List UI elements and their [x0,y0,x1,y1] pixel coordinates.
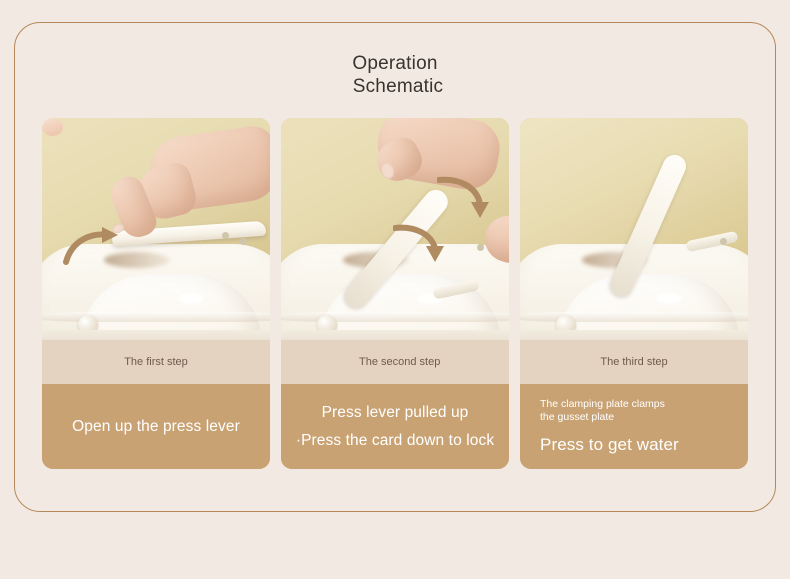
step-1-caption: Open up the press lever [42,384,270,469]
step-panel-1: The first step Open up the press lever [42,118,270,469]
hand-photo [42,118,63,136]
step-3-label: The third step [520,340,748,384]
appliance-highlight [656,293,682,304]
appliance-base [281,330,509,340]
appliance-base [520,330,748,340]
step-2-label-text: The second step [359,355,440,369]
curved-arrow-down-icon [393,222,445,266]
page-title: Operation Schematic [0,52,790,98]
page-title-line-1: Operation [352,53,437,74]
step-2-caption: Press lever pulled up ·Press the card do… [281,384,509,469]
step-3-caption-main: Press to get water [540,434,679,455]
step-1-label: The first step [42,340,270,384]
step-2-label: The second step [281,340,509,384]
step-1-photo [42,118,270,340]
lever-pin-icon [222,232,229,239]
appliance-rim [281,312,509,322]
appliance-highlight [178,293,204,304]
step-3-photo [520,118,748,340]
lever-pin-icon [477,244,484,251]
step-1-caption-main: Open up the press lever [72,417,240,436]
step-panel-3: The third step The clamping plate clamps… [520,118,748,469]
appliance-rim [520,312,748,322]
step-3-caption-sub: The clamping plate clamps the gusset pla… [540,398,665,424]
page-title-line-2: Schematic [0,75,790,98]
step-2-caption-main-2: ·Press the card down to lock [296,431,494,450]
step-2-caption-main: Press lever pulled up [322,403,469,422]
appliance-rim [42,312,270,322]
appliance-base [42,330,270,340]
step-3-label-text: The third step [600,355,667,369]
step-panel-2: The second step Press lever pulled up ·P… [281,118,509,469]
curved-arrow-down-icon [437,174,489,222]
finger-tip [42,118,63,136]
step-2-photo [281,118,509,340]
curved-arrow-right-icon [62,226,128,268]
step-1-label-text: The first step [124,355,188,369]
lever-pin-icon [720,238,727,245]
step-3-caption: The clamping plate clamps the gusset pla… [520,384,748,469]
steps-container: The first step Open up the press lever [42,118,749,469]
lever-pin-icon [240,238,247,245]
